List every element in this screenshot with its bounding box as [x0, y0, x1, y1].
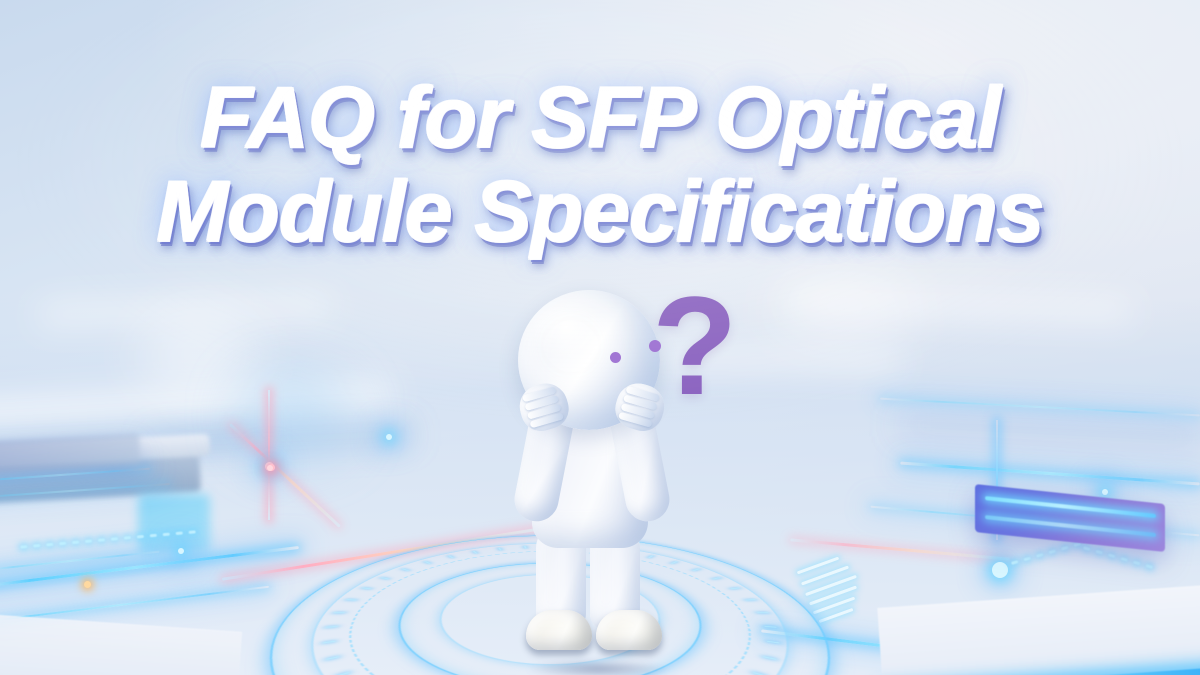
bg-slab-cyan-card: [138, 494, 210, 552]
bg-bokeh-1: [140, 310, 260, 400]
title-line-1-text: FAQ for SFP Optical: [200, 72, 1000, 164]
bg-chip-stripe-1: [985, 496, 1156, 518]
character-shadow: [498, 656, 698, 675]
title-line-2: Module Specifications Module Specificati…: [0, 166, 1200, 258]
title-line-1: FAQ for SFP Optical FAQ for SFP Optical: [0, 72, 1200, 164]
character-foot-right: [596, 610, 662, 650]
bg-bokeh-2: [240, 376, 350, 456]
bg-bokeh-3: [770, 272, 920, 342]
bg-glow-dot-6: [1102, 489, 1108, 495]
hero-banner: ? FAQ for SFP Optical FAQ for SFP Optica…: [0, 0, 1200, 675]
bg-glow-dot-3: [84, 581, 91, 588]
title-line-2-text: Module Specifications: [157, 166, 1044, 258]
character-foot-left: [526, 610, 592, 650]
character-eye-left: [610, 352, 621, 363]
bg-panel-edge-glow: [883, 667, 1200, 675]
page-title: FAQ for SFP Optical FAQ for SFP Optical …: [0, 72, 1200, 258]
bg-beam-vertical-left: [268, 390, 270, 520]
bg-glow-dot-5: [992, 562, 1008, 578]
bg-glow-dot-8: [178, 548, 184, 554]
bg-glow-dot-7: [267, 465, 273, 471]
bg-chip-stripe-2: [985, 515, 1156, 537]
question-mark-icon: ?: [652, 276, 738, 416]
bg-glow-dot-4: [386, 434, 392, 440]
